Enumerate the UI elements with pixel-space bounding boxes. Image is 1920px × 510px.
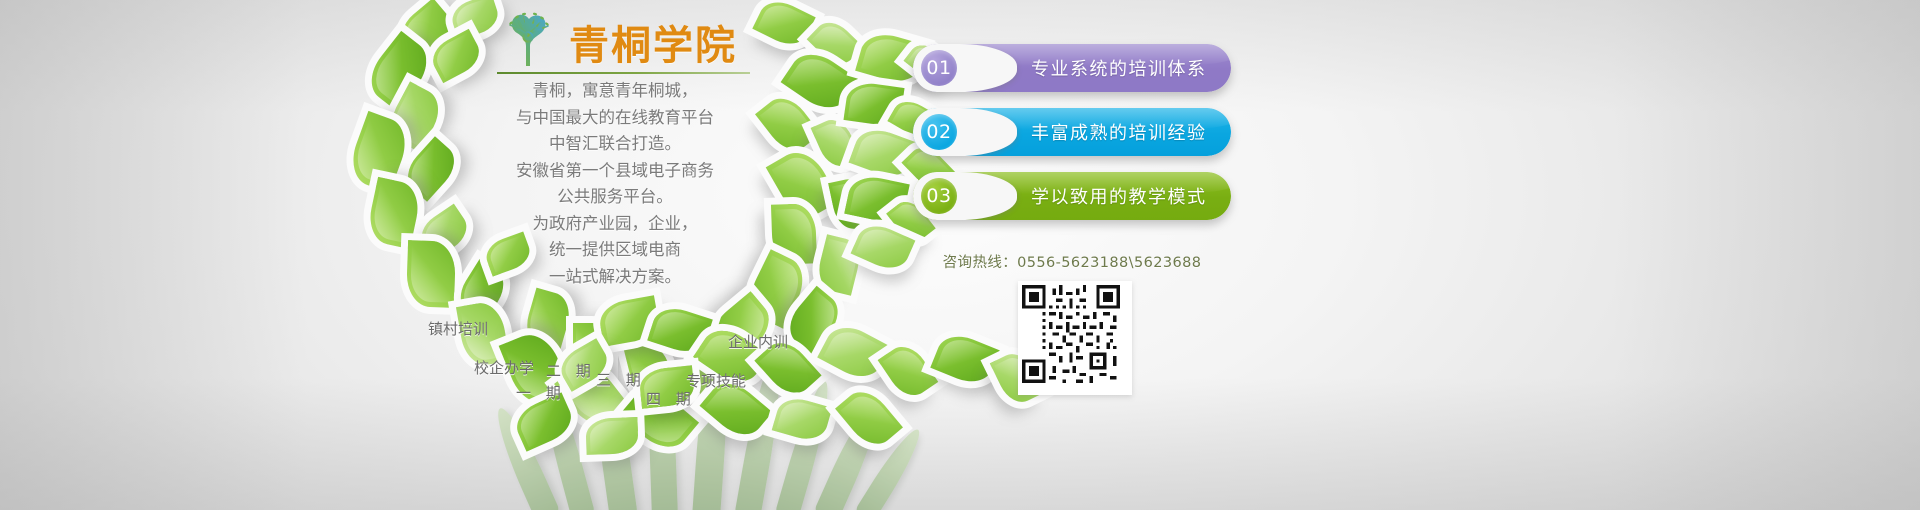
intro-line: 统一提供区域电商 bbox=[470, 237, 760, 264]
feature-label: 专业系统的培训体系 bbox=[1031, 55, 1207, 81]
feature-number: 02 bbox=[921, 114, 957, 150]
feature-item-02[interactable]: 02 丰富成熟的培训经验 bbox=[913, 108, 1231, 156]
tag-village-training: 镇村培训 bbox=[428, 318, 488, 339]
brand-logo: 青桐学院 bbox=[497, 6, 757, 74]
leaf-icon bbox=[585, 417, 638, 455]
intro-text: 青桐，寓意青年桐城， 与中国最大的在线教育平台 中智汇联合打造。 安徽省第一个县… bbox=[470, 78, 760, 290]
feature-list: 01 专业系统的培训体系 02 丰富成熟的培训经验 03 学以致用的教学模式 bbox=[913, 44, 1231, 236]
brand-name: 青桐学院 bbox=[569, 24, 737, 68]
feature-label: 学以致用的教学模式 bbox=[1031, 183, 1207, 209]
intro-line: 一站式解决方案。 bbox=[470, 264, 760, 291]
feature-item-01[interactable]: 01 专业系统的培训体系 bbox=[913, 44, 1231, 92]
leaf-icon bbox=[752, 0, 815, 51]
leaf-icon bbox=[406, 240, 456, 308]
tree-logo-icon bbox=[497, 6, 559, 68]
intro-line: 中智汇联合打造。 bbox=[470, 131, 760, 158]
intro-line: 为政府产业园，企业， bbox=[470, 211, 760, 238]
brand-underline bbox=[497, 72, 750, 74]
hotline-text: 咨询热线：0556-5623188\5623688 bbox=[913, 251, 1231, 272]
intro-line: 安徽省第一个县域电子商务 bbox=[470, 158, 760, 185]
tag-enterprise-training: 企业内训 bbox=[728, 331, 788, 352]
intro-line: 青桐，寓意青年桐城， bbox=[470, 78, 760, 105]
intro-line: 公共服务平台。 bbox=[470, 184, 760, 211]
feature-number: 03 bbox=[921, 178, 957, 214]
tag-phase-4: 四 期 bbox=[646, 388, 696, 409]
feature-item-03[interactable]: 03 学以致用的教学模式 bbox=[913, 172, 1231, 220]
tag-phase-1: 一 期 bbox=[516, 382, 566, 403]
tag-phase-2: 二 期 bbox=[546, 360, 596, 381]
promo-banner: 青桐学院 青桐，寓意青年桐城， 与中国最大的在线教育平台 中智汇联合打造。 安徽… bbox=[0, 0, 1920, 510]
feature-label: 丰富成熟的培训经验 bbox=[1031, 119, 1207, 145]
tag-special-skills: 专项技能 bbox=[686, 370, 746, 391]
leaf-icon bbox=[930, 329, 1000, 390]
tag-phase-3: 三 期 bbox=[596, 369, 646, 390]
feature-number: 01 bbox=[921, 50, 957, 86]
qr-code-icon bbox=[1018, 281, 1132, 395]
intro-line: 与中国最大的在线教育平台 bbox=[470, 105, 760, 132]
tag-school-enterprise: 校企办学 bbox=[474, 357, 534, 378]
